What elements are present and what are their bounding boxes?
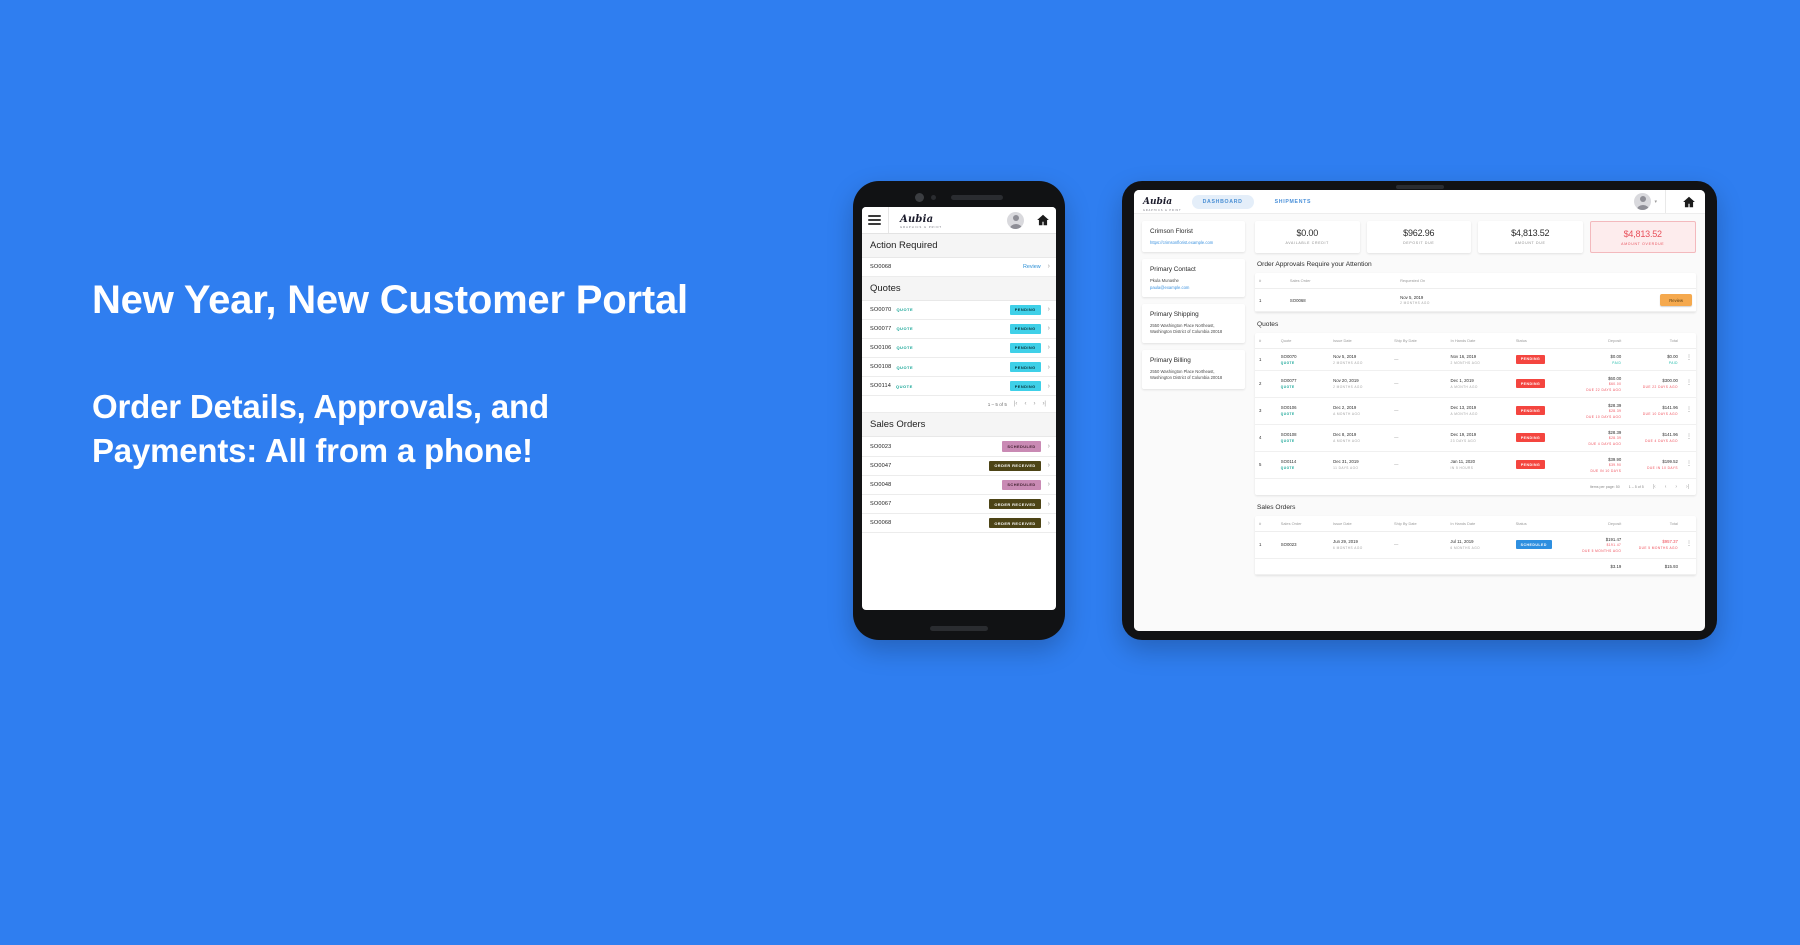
status-badge: SCHEDULED: [1002, 480, 1040, 490]
col-issue-date: Issue Date: [1329, 516, 1390, 532]
chevron-right-icon: ›: [1048, 443, 1050, 450]
phone-section-title-sales-orders: Sales Orders: [862, 413, 1056, 437]
chevron-right-icon: ›: [1048, 481, 1050, 488]
sales-orders-table: # Sales Order Issue Date Ship By Date In…: [1255, 516, 1696, 575]
col-status: Status: [1512, 333, 1569, 349]
row-issue-date: Dec 31, 201911 DAYS AGO: [1329, 451, 1390, 478]
sales-order-code: SO0047: [870, 463, 891, 469]
brand-logo: Aubia GRAPHICS & PRINT: [1143, 191, 1182, 212]
kpi-value: $4,813.52: [1595, 229, 1692, 239]
col-ship-by-date: Ship By Date: [1390, 516, 1446, 532]
row-menu-icon[interactable]: ⋮: [1682, 424, 1696, 451]
row-menu-icon[interactable]: ⋮: [1682, 531, 1696, 558]
col-sales-order: Sales Order: [1277, 516, 1329, 532]
row-num: 1: [1255, 531, 1277, 558]
row-in-hands-date: Nov 16, 20192 MONTHS AGO: [1447, 349, 1512, 371]
row-num: 3: [1255, 397, 1277, 424]
table-row[interactable]: 5 SO0114QUOTE Dec 31, 201911 DAYS AGO — …: [1255, 451, 1696, 478]
account-name: Crimson Florist: [1150, 228, 1237, 235]
quotes-section-title: Quotes: [1257, 321, 1696, 328]
review-link[interactable]: Review: [1023, 264, 1041, 270]
chevron-right-icon: ›: [1048, 344, 1050, 351]
col-in-hands-date: In Hands Date: [1447, 333, 1512, 349]
sidebar-card-account[interactable]: Crimson Florist https://crimsonflorist.e…: [1142, 221, 1245, 252]
tablet-app-bar: Aubia GRAPHICS & PRINT DASHBOARD SHIPMEN…: [1134, 190, 1705, 214]
row-num: 1: [1255, 349, 1277, 371]
col-status: Status: [1512, 516, 1569, 532]
quote-code: SO0106: [870, 345, 891, 351]
row-num: 2: [1255, 370, 1277, 397]
row-ship-by-date: —: [1390, 370, 1446, 397]
row-in-hands-date: Dec 19, 201923 DAYS AGO: [1447, 424, 1512, 451]
table-row[interactable]: $3.19 $15.93: [1255, 558, 1696, 574]
next-page-icon[interactable]: ›: [1033, 401, 1035, 407]
phone-sales-order-row[interactable]: SO0068 ORDER RECEIVED ›: [862, 514, 1056, 533]
row-total: $141.96DUE 4 DAYS AGO: [1625, 424, 1682, 451]
row-status: PENDING: [1512, 370, 1569, 397]
row-total: $0.00PAID: [1625, 349, 1682, 371]
quote-tag: QUOTE: [1281, 385, 1325, 389]
chevron-right-icon: ›: [1048, 501, 1050, 508]
hamburger-icon[interactable]: [868, 207, 889, 233]
kpi-amount-due: $4,813.52 AMOUNT DUE: [1478, 221, 1583, 253]
items-per-page-label[interactable]: Items per page: 50: [1590, 485, 1620, 489]
col-num: #: [1255, 333, 1277, 349]
chevron-right-icon: ›: [1048, 325, 1050, 332]
row-deposit: $28.39$28.39DUE 4 DAYS AGO: [1569, 424, 1626, 451]
promo-subhead: Order Details, Approvals, and Payments: …: [92, 385, 772, 473]
tablet-device-mockup: Aubia GRAPHICS & PRINT DASHBOARD SHIPMEN…: [1122, 181, 1717, 640]
sidebar-card-primary-billing[interactable]: Primary Billing 2550 Washington Place No…: [1142, 350, 1245, 389]
quote-tag: QUOTE: [1281, 439, 1325, 443]
col-deposit: Deposit: [1569, 516, 1626, 532]
promo-subhead-line2: Payments: All from a phone!: [92, 429, 772, 473]
quote-tag: QUOTE: [896, 345, 913, 350]
sales-order-code: SO0023: [870, 444, 891, 450]
tablet-main-content: $0.00 AVAILABLE CREDIT $962.96 DEPOSIT D…: [1251, 214, 1705, 631]
row-num: 5: [1255, 451, 1277, 478]
status-badge: PENDING: [1516, 355, 1545, 364]
row-issue-date: Nov 20, 20192 MONTHS AGO: [1329, 370, 1390, 397]
row-requested-on: Nov 5, 2019 2 MONTHS AGO: [1396, 289, 1599, 312]
phone-app-bar: Aubia GRAPHICS & PRINT: [862, 207, 1056, 234]
account-menu[interactable]: ▾: [1634, 190, 1666, 213]
phone-section-title-quotes: Quotes: [862, 277, 1056, 301]
kpi-label: AMOUNT DUE: [1482, 241, 1579, 245]
row-in-hands-date: Jan 11, 2020IN 5 HOURS: [1447, 451, 1512, 478]
phone-front-camera: [853, 193, 1065, 202]
kpi-amount-overdue: $4,813.52 AMOUNT OVERDUE: [1590, 221, 1697, 253]
next-page-icon[interactable]: ›: [1675, 484, 1677, 490]
status-badge: PENDING: [1010, 343, 1041, 353]
row-quote-code: SO0077QUOTE: [1277, 370, 1329, 397]
col-requested-on: Requested On: [1396, 273, 1599, 289]
row-total: $15.93: [1625, 558, 1682, 574]
primary-shipping-address: 2550 Washington Place Northeast, Washing…: [1150, 323, 1237, 336]
brand-name: Aubia: [1143, 197, 1172, 207]
row-num: 1: [1255, 289, 1286, 312]
table-header-row: # Sales Order Requested On: [1255, 273, 1696, 289]
table-header-row: # Sales Order Issue Date Ship By Date In…: [1255, 516, 1696, 532]
kpi-value: $0.00: [1259, 228, 1356, 238]
table-row[interactable]: 2 SO0077QUOTE Nov 20, 20192 MONTHS AGO —…: [1255, 370, 1696, 397]
row-quote-code: SO0108QUOTE: [1277, 424, 1329, 451]
brand-name: Aubia: [900, 214, 933, 225]
table-row[interactable]: 1 SO0070QUOTE Nov 5, 20192 MONTHS AGO — …: [1255, 349, 1696, 371]
row-deposit: $191.47$191.47DUE 5 MONTHS AGO: [1569, 531, 1626, 558]
row-requested-on-relative: 2 MONTHS AGO: [1400, 301, 1595, 305]
tablet-body: Crimson Florist https://crimsonflorist.e…: [1134, 214, 1705, 631]
row-menu-icon[interactable]: ⋮: [1682, 349, 1696, 371]
col-deposit: Deposit: [1569, 333, 1626, 349]
sales-order-code: SO0048: [870, 482, 891, 488]
quote-tag: QUOTE: [1281, 466, 1325, 470]
quote-tag: QUOTE: [896, 384, 913, 389]
row-menu-icon[interactable]: ⋮: [1682, 397, 1696, 424]
promo-headline: New Year, New Customer Portal: [92, 278, 772, 323]
status-badge: ORDER RECEIVED: [989, 499, 1040, 509]
order-code: SO0068: [870, 264, 891, 270]
row-deposit: $3.19: [1569, 558, 1626, 574]
status-badge: PENDING: [1010, 381, 1041, 391]
brand-tagline: GRAPHICS & PRINT: [900, 227, 942, 230]
kpi-value: $4,813.52: [1482, 228, 1579, 238]
kpi-label: AVAILABLE CREDIT: [1259, 241, 1356, 245]
row-menu-icon[interactable]: ⋮: [1682, 370, 1696, 397]
status-badge: PENDING: [1516, 379, 1545, 388]
quotes-paginator[interactable]: Items per page: 50 1 – 5 of 5 |‹ ‹ › ›|: [1255, 479, 1696, 495]
kpi-value: $962.96: [1371, 228, 1468, 238]
status-badge: PENDING: [1010, 324, 1041, 334]
row-total: $957.37DUE 5 MONTHS AGO: [1625, 531, 1682, 558]
phone-section-title-action-required: Action Required: [862, 234, 1056, 258]
sales-order-code: SO0068: [870, 520, 891, 526]
chevron-right-icon: ›: [1048, 306, 1050, 313]
row-ship-by-date: —: [1390, 451, 1446, 478]
row-ship-by-date: —: [1390, 349, 1446, 371]
table-row[interactable]: 4 SO0108QUOTE Dec 8, 2019A MONTH AGO — D…: [1255, 424, 1696, 451]
row-issue-date: Dec 2, 2019A MONTH AGO: [1329, 397, 1390, 424]
phone-quote-row[interactable]: SO0114 QUOTE PENDING ›: [862, 377, 1056, 396]
row-in-hands-date: Jul 11, 20196 MONTHS AGO: [1446, 531, 1511, 558]
row-issue-date: Jun 29, 20196 MONTHS AGO: [1329, 531, 1390, 558]
row-sales-order: SO0068: [1286, 289, 1396, 312]
phone-sales-order-row[interactable]: SO0047 ORDER RECEIVED ›: [862, 457, 1056, 476]
status-badge: SCHEDULED: [1002, 441, 1040, 451]
quote-tag: QUOTE: [1281, 412, 1325, 416]
row-in-hands-date: Dec 1, 2019A MONTH AGO: [1447, 370, 1512, 397]
avatar-icon[interactable]: [1007, 212, 1024, 229]
prev-page-icon[interactable]: ‹: [1665, 484, 1667, 490]
brand-tagline: GRAPHICS & PRINT: [1143, 209, 1182, 212]
quotes-table: # Quote Issue Date Ship By Date In Hands…: [1255, 333, 1696, 479]
row-quote-code: SO0114QUOTE: [1277, 451, 1329, 478]
quote-tag: QUOTE: [896, 326, 913, 331]
kpi-label: DEPOSIT DUE: [1371, 241, 1468, 245]
row-sales-order-code: SO0023: [1277, 531, 1329, 558]
primary-billing-address: 2550 Washington Place Northeast, Washing…: [1150, 369, 1237, 382]
status-badge: PENDING: [1516, 460, 1545, 469]
chevron-right-icon: ›: [1048, 383, 1050, 390]
review-button[interactable]: Review: [1660, 294, 1692, 306]
status-badge: SCHEDULED: [1516, 540, 1552, 549]
table-row[interactable]: 3 SO0106QUOTE Dec 2, 2019A MONTH AGO — D…: [1255, 397, 1696, 424]
approvals-table: # Sales Order Requested On 1 SO0068 Nov …: [1255, 273, 1696, 312]
row-total: $300.00DUE 22 DAYS AGO: [1625, 370, 1682, 397]
phone-quote-row[interactable]: SO0106 QUOTE PENDING ›: [862, 339, 1056, 358]
col-num: #: [1255, 516, 1277, 532]
paginator-range: 1 – 5 of 5: [1629, 485, 1644, 489]
sales-order-code: SO0067: [870, 501, 891, 507]
primary-contact-title: Primary Contact: [1150, 266, 1237, 273]
kpi-label: AMOUNT OVERDUE: [1595, 242, 1692, 246]
row-ship-by-date: —: [1390, 397, 1446, 424]
primary-billing-title: Primary Billing: [1150, 357, 1237, 364]
row-in-hands-date: Dec 13, 2019A MONTH AGO: [1447, 397, 1512, 424]
tablet-screen: Aubia GRAPHICS & PRINT DASHBOARD SHIPMEN…: [1134, 190, 1705, 631]
phone-quotes-paginator[interactable]: 1 – 5 of 5 |‹ ‹ › ›|: [862, 396, 1056, 413]
phone-device-mockup: Aubia GRAPHICS & PRINT Action Required S…: [853, 181, 1065, 640]
avatar-icon[interactable]: [1634, 193, 1651, 210]
tab-dashboard[interactable]: DASHBOARD: [1192, 195, 1254, 209]
first-page-icon[interactable]: |‹: [1014, 401, 1018, 407]
phone-action-row[interactable]: SO0068 Review ›: [862, 258, 1056, 277]
col-quote: Quote: [1277, 333, 1329, 349]
quotes-card: # Quote Issue Date Ship By Date In Hands…: [1255, 333, 1696, 495]
status-badge: PENDING: [1010, 305, 1041, 315]
last-page-icon[interactable]: ›|: [1686, 484, 1689, 490]
last-page-icon[interactable]: ›|: [1042, 401, 1046, 407]
first-page-icon[interactable]: |‹: [1653, 484, 1656, 490]
col-num: #: [1255, 273, 1286, 289]
row-issue-date: Nov 5, 20192 MONTHS AGO: [1329, 349, 1390, 371]
chevron-right-icon: ›: [1048, 364, 1050, 371]
brand-logo: Aubia GRAPHICS & PRINT: [900, 210, 942, 230]
prev-page-icon[interactable]: ‹: [1024, 401, 1026, 407]
phone-sales-order-row[interactable]: SO0067 ORDER RECEIVED ›: [862, 495, 1056, 514]
row-total: $141.96DUE 10 DAYS AGO: [1625, 397, 1682, 424]
phone-sales-order-row[interactable]: SO0023 SCHEDULED ›: [862, 437, 1056, 456]
approvals-section-title: Order Approvals Require your Attention: [1257, 261, 1696, 268]
phone-home-indicator: [930, 626, 988, 631]
status-badge: PENDING: [1516, 406, 1545, 415]
chevron-down-icon[interactable]: ▾: [1654, 199, 1657, 205]
col-in-hands-date: In Hands Date: [1446, 516, 1511, 532]
row-ship-by-date: —: [1390, 424, 1446, 451]
account-website-link[interactable]: https://crimsonflorist.example.com: [1150, 240, 1237, 245]
promo-subhead-line1: Order Details, Approvals, and: [92, 385, 772, 429]
row-menu-icon[interactable]: ⋮: [1682, 451, 1696, 478]
quote-tag: QUOTE: [896, 307, 913, 312]
row-num: 4: [1255, 424, 1277, 451]
primary-contact-email[interactable]: paula@example.com: [1150, 285, 1237, 290]
row-status: PENDING: [1512, 451, 1569, 478]
row-status: PENDING: [1512, 349, 1569, 371]
quote-tag: QUOTE: [896, 365, 913, 370]
row-issue-date: Dec 8, 2019A MONTH AGO: [1329, 424, 1390, 451]
phone-screen: Aubia GRAPHICS & PRINT Action Required S…: [862, 207, 1056, 610]
col-issue-date: Issue Date: [1329, 333, 1390, 349]
col-sales-order: Sales Order: [1286, 273, 1396, 289]
sidebar-card-primary-contact[interactable]: Primary Contact Pkula Munashe paula@exam…: [1142, 259, 1245, 297]
tablet-front-camera: [1396, 185, 1444, 189]
row-ship-by-date: —: [1390, 531, 1446, 558]
primary-shipping-title: Primary Shipping: [1150, 311, 1237, 318]
phone-quote-row[interactable]: SO0077 QUOTE PENDING ›: [862, 320, 1056, 339]
row-status: PENDING: [1512, 397, 1569, 424]
quote-code: SO0077: [870, 326, 891, 332]
col-total: Total: [1625, 516, 1682, 532]
row-total: $199.52DUE IN 10 DAYS: [1625, 451, 1682, 478]
status-badge: ORDER RECEIVED: [989, 461, 1040, 471]
sidebar-card-primary-shipping[interactable]: Primary Shipping 2550 Washington Place N…: [1142, 304, 1245, 343]
kpi-deposit-due: $962.96 DEPOSIT DUE: [1367, 221, 1472, 253]
col-total: Total: [1625, 333, 1682, 349]
tab-shipments[interactable]: SHIPMENTS: [1264, 195, 1323, 209]
home-icon[interactable]: [1036, 213, 1050, 227]
quote-code: SO0070: [870, 307, 891, 313]
row-deposit: $0.00PAID: [1569, 349, 1626, 371]
table-row[interactable]: 1 SO0068 Nov 5, 2019 2 MONTHS AGO Review: [1255, 289, 1696, 312]
table-header-row: # Quote Issue Date Ship By Date In Hands…: [1255, 333, 1696, 349]
quote-tag: QUOTE: [1281, 361, 1325, 365]
row-deposit: $39.90$39.90DUE IN 10 DAYS: [1569, 451, 1626, 478]
sales-orders-card: # Sales Order Issue Date Ship By Date In…: [1255, 516, 1696, 575]
kpi-available-credit: $0.00 AVAILABLE CREDIT: [1255, 221, 1360, 253]
approvals-card: # Sales Order Requested On 1 SO0068 Nov …: [1255, 273, 1696, 312]
status-badge: PENDING: [1010, 362, 1041, 372]
row-quote-code: SO0106QUOTE: [1277, 397, 1329, 424]
status-badge: ORDER RECEIVED: [989, 518, 1040, 528]
quote-code: SO0114: [870, 383, 891, 389]
row-action: Review: [1599, 289, 1696, 312]
row-deposit: $60.00$60.00DUE 22 DAYS AGO: [1569, 370, 1626, 397]
row-status: SCHEDULED: [1512, 531, 1569, 558]
row-status: PENDING: [1512, 424, 1569, 451]
tablet-sidebar: Crimson Florist https://crimsonflorist.e…: [1134, 214, 1251, 631]
phone-quote-row[interactable]: SO0108 QUOTE PENDING ›: [862, 358, 1056, 377]
chevron-right-icon: ›: [1048, 462, 1050, 469]
table-row[interactable]: 1 SO0023 Jun 29, 20196 MONTHS AGO — Jul …: [1255, 531, 1696, 558]
phone-quote-row[interactable]: SO0070 QUOTE PENDING ›: [862, 301, 1056, 320]
promo-copy: New Year, New Customer Portal Order Deta…: [92, 278, 772, 473]
chevron-right-icon: ›: [1048, 520, 1050, 527]
chevron-right-icon: ›: [1048, 263, 1050, 270]
status-badge: PENDING: [1516, 433, 1545, 442]
col-ship-by-date: Ship By Date: [1390, 333, 1446, 349]
row-quote-code: SO0070QUOTE: [1277, 349, 1329, 371]
phone-sales-order-row[interactable]: SO0048 SCHEDULED ›: [862, 476, 1056, 495]
row-deposit: $28.39$28.39DUE 10 DAYS AGO: [1569, 397, 1626, 424]
quote-code: SO0108: [870, 364, 891, 370]
home-icon[interactable]: [1682, 195, 1696, 209]
kpi-row: $0.00 AVAILABLE CREDIT $962.96 DEPOSIT D…: [1255, 221, 1696, 253]
sales-orders-section-title: Sales Orders: [1257, 504, 1696, 511]
paginator-range: 1 – 5 of 5: [988, 402, 1007, 407]
